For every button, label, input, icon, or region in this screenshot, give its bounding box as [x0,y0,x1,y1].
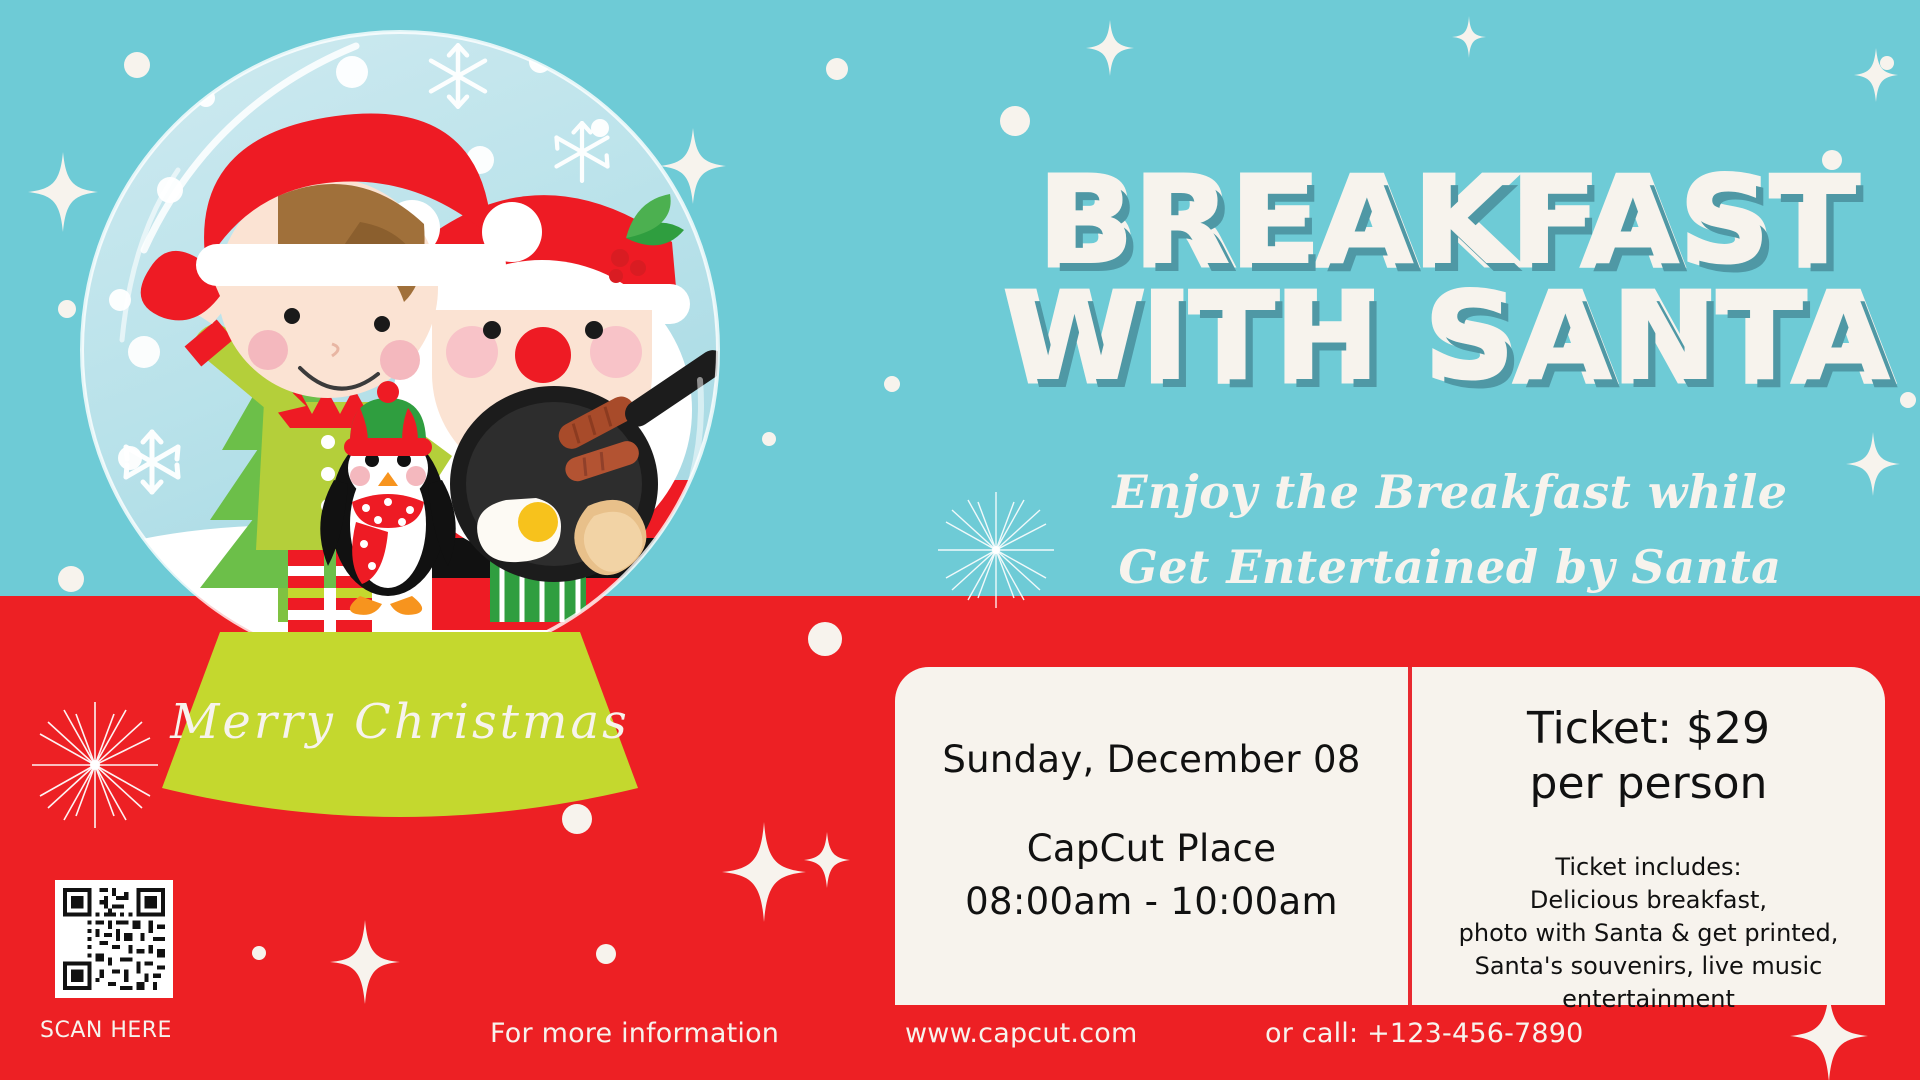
event-venue: CapCut Place [1027,823,1277,876]
globe-banner-text: Merry Christmas [169,694,629,750]
snow-dot [884,376,900,392]
footer-more-info: For more information [490,1018,779,1049]
snow-globe-illustration: Merry Christmas [60,10,740,870]
event-info-card: Sunday, December 08 CapCut Place 08:00am… [895,667,1885,1005]
ticket-includes-line-4: entertainment [1459,983,1839,1016]
ticket-pane: Ticket: $29 per person Ticket includes: … [1412,667,1885,1005]
snow-dot [252,946,266,960]
event-details-pane: Sunday, December 08 CapCut Place 08:00am… [895,667,1408,1005]
qr-code[interactable] [55,880,173,998]
poster-canvas: Merry Christmas BREAKFAST WITH SANTA Enj… [0,0,1920,1080]
subtitle-line-1: Enjoy the Breakfast while [1000,455,1900,530]
headline-line-2: WITH SANTA [1003,281,1897,397]
subtitle-line-2: Get Entertained by Santa [1000,530,1900,605]
snow-dot [596,944,616,964]
snow-dot [762,432,776,446]
ticket-includes-block: Ticket includes: Delicious breakfast, ph… [1459,851,1839,1017]
footer-website[interactable]: www.capcut.com [905,1018,1137,1049]
snow-dot [826,58,848,80]
snow-dot [1000,106,1030,136]
ticket-includes-line-3: Santa's souvenirs, live music [1459,950,1839,983]
sparkle-icon [1086,20,1134,76]
sparkle-icon [1452,16,1486,58]
event-time: 08:00am - 10:00am [965,876,1338,929]
sparkle-icon [1854,48,1898,102]
snow-dot [1900,392,1916,408]
ticket-includes-heading: Ticket includes: [1459,851,1839,884]
event-date: Sunday, December 08 [942,738,1360,781]
snow-dot [808,622,842,656]
sparkle-icon [330,920,400,1004]
footer-phone[interactable]: or call: +123-456-7890 [1265,1018,1584,1049]
sparkle-icon [804,832,850,888]
page-title: BREAKFAST WITH SANTA [1020,165,1880,396]
ticket-price-unit: per person [1527,756,1770,811]
ticket-price-block: Ticket: $29 per person [1527,701,1770,811]
scan-here-label: SCAN HERE [40,1018,220,1043]
ticket-price-amount: Ticket: $29 [1527,701,1770,756]
ticket-includes-line-1: Delicious breakfast, [1459,884,1839,917]
subtitle: Enjoy the Breakfast while Get Entertaine… [1000,455,1900,604]
headline-line-1: BREAKFAST [1003,165,1897,281]
ticket-includes-line-2: photo with Santa & get printed, [1459,917,1839,950]
